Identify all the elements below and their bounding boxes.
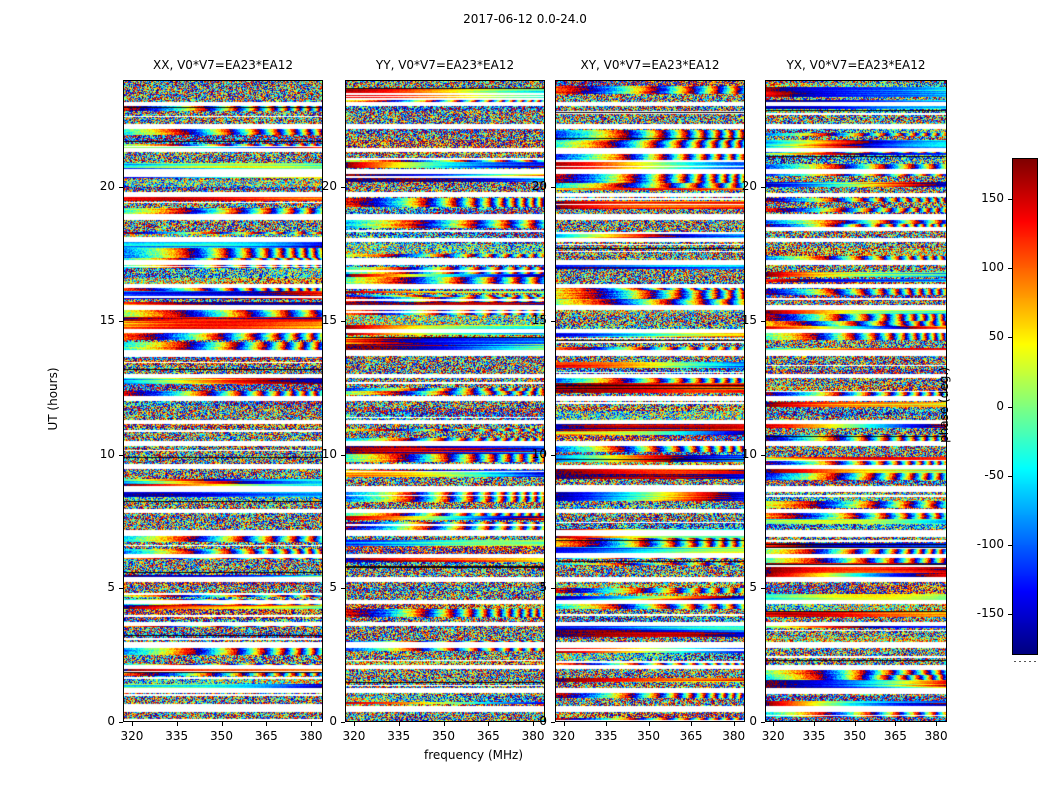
colorbar-tick-label: 150 [954,191,1004,205]
panel-xy-ytick-mark [551,321,555,322]
colorbar-tick-label: 50 [954,329,1004,343]
panel-xy-ytick-mark [551,455,555,456]
panel-yx-ytick-mark [761,187,765,188]
panel-xx-xtick-mark [222,722,223,726]
panel-xy-ytick-label: 15 [507,313,547,327]
panel-yx[interactable] [765,80,947,722]
panel-yx-ytick-label: 15 [717,313,757,327]
panel-yx-xtick-mark [855,722,856,726]
panel-yx-xtick-mark [814,722,815,726]
panel-xy-xtick-mark [606,722,607,726]
panel-yx-ytick-label: 10 [717,447,757,461]
panel-yy-xtick-label: 320 [329,729,379,743]
panel-yx-ytick-mark [761,722,765,723]
panel-xy-ytick-label: 0 [507,714,547,728]
colorbar-tick-label: -150 [954,606,1004,620]
colorbar-tick-mark [1008,476,1012,477]
panel-xx-ytick-mark [119,455,123,456]
panel-xx[interactable] [123,80,323,722]
colorbar[interactable] [1012,158,1038,655]
panel-xy-ytick-label: 20 [507,179,547,193]
panel-yy-xtick-label: 365 [463,729,513,743]
panel-xx-xtick-label: 350 [197,729,247,743]
panel-xx-xtick-mark [177,722,178,726]
panel-xx-image [124,81,322,721]
panel-yx-ytick-label: 20 [717,179,757,193]
panel-yy-ytick-mark [341,455,345,456]
panel-xy-ytick-label: 10 [507,447,547,461]
panel-xx-xtick-label: 320 [107,729,157,743]
colorbar-gradient [1013,159,1037,654]
panel-yy-ytick-label: 10 [297,447,337,461]
panel-yx-ytick-label: 5 [717,580,757,594]
panel-xx-ytick-mark [119,187,123,188]
panel-yy-ytick-mark [341,722,345,723]
x-axis-label: frequency (MHz) [0,748,947,762]
panel-yy-ytick-mark [341,321,345,322]
panel-yy-xtick-mark [488,722,489,726]
panel-xx-xtick-mark [266,722,267,726]
figure-canvas: 2017-06-12 0.0-24.0 XX, V0*V7=EA23*EA120… [0,0,1050,800]
panel-xx-xtick-mark [132,722,133,726]
colorbar-tick-mark [1008,199,1012,200]
panel-xx-ytick-mark [119,321,123,322]
panel-yx-xtick-mark [895,722,896,726]
panel-xy-ytick-mark [551,588,555,589]
panel-yy-ytick-label: 15 [297,313,337,327]
colorbar-tick-mark [1008,545,1012,546]
panel-xx-ytick-label: 15 [75,313,115,327]
panel-yy-ytick-label: 5 [297,580,337,594]
panel-yx-ytick-mark [761,321,765,322]
panel-yy-xtick-label: 350 [419,729,469,743]
panel-yy-ytick-mark [341,588,345,589]
panel-yy-xtick-label: 335 [374,729,424,743]
colorbar-tick-label: 100 [954,260,1004,274]
panel-yy-ytick-label: 20 [297,179,337,193]
panel-xx-xtick-label: 335 [152,729,202,743]
panel-xx-xtick-label: 365 [241,729,291,743]
panel-yx-xtick-mark [773,722,774,726]
panel-yy-xtick-mark [444,722,445,726]
panel-xx-ytick-label: 10 [75,447,115,461]
panel-xy-xtick-mark [691,722,692,726]
panel-yx-ytick-mark [761,588,765,589]
panel-xx-ytick-mark [119,588,123,589]
panel-yx-ytick-label: 0 [717,714,757,728]
panel-xy-ytick-mark [551,187,555,188]
colorbar-tick-mark [1008,268,1012,269]
panel-yy-ytick-label: 0 [297,714,337,728]
panel-yx-xtick-mark [936,722,937,726]
colorbar-tick-mark [1008,614,1012,615]
panel-xy-xtick-mark [564,722,565,726]
colorbar-label: phase (deg.) [937,305,951,505]
panel-xx-ytick-label: 20 [75,179,115,193]
panel-xx-ytick-mark [119,722,123,723]
panel-yx-image [766,81,946,721]
figure-suptitle: 2017-06-12 0.0-24.0 [0,12,1050,26]
panel-yx-title: YX, V0*V7=EA23*EA12 [705,58,1007,72]
colorbar-tick-label: -100 [954,537,1004,551]
y-axis-label: UT (hours) [46,299,60,499]
panel-xy-ytick-mark [551,722,555,723]
panel-yx-ytick-mark [761,455,765,456]
panel-yx-xtick-label: 380 [911,729,961,743]
panel-yy-ytick-mark [341,187,345,188]
panel-xy-xtick-mark [649,722,650,726]
panel-xy[interactable] [555,80,745,722]
panel-yy[interactable] [345,80,545,722]
panel-xy-ytick-label: 5 [507,580,547,594]
panel-yy-xtick-mark [399,722,400,726]
colorbar-tick-label: 0 [954,399,1004,413]
panel-xy-image [556,81,744,721]
panel-yy-xtick-mark [354,722,355,726]
colorbar-tick-label: -50 [954,468,1004,482]
colorbar-underflow-marker [1014,661,1036,662]
panel-yy-image [346,81,544,721]
colorbar-tick-mark [1008,337,1012,338]
colorbar-tick-mark [1008,407,1012,408]
panel-xx-ytick-label: 5 [75,580,115,594]
panel-xx-ytick-label: 0 [75,714,115,728]
